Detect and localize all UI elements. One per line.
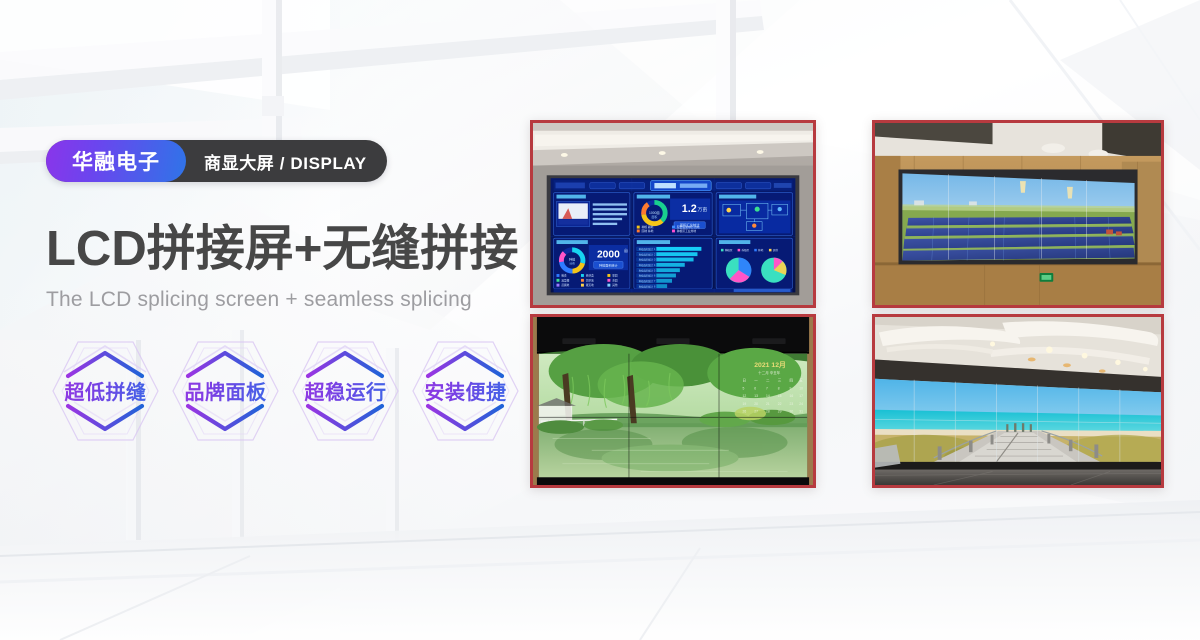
svg-text:12: 12 (743, 394, 747, 398)
svg-text:粮食: 粮食 (561, 274, 567, 278)
product-photo-lake-wall[interactable]: 2021 12月 十二月 辛丑年 日一二 三四五 567 8910 121314… (530, 314, 816, 488)
svg-text:种植面积统计 4: 种植面积统计 4 (639, 263, 656, 267)
svg-text:16: 16 (790, 394, 794, 398)
feature-badge-label: 超低拼缝 (48, 376, 163, 405)
svg-text:9: 9 (790, 386, 792, 390)
svg-text:日: 日 (743, 379, 747, 383)
feature-badge-label: 品牌面板 (168, 376, 283, 405)
dashboard-pie-right (761, 258, 786, 283)
svg-text:31: 31 (799, 410, 803, 414)
svg-text:种植区: 种植区 (725, 248, 733, 252)
svg-text:一: 一 (754, 379, 758, 383)
solar-wall-illustration (875, 123, 1161, 305)
feature-badge-label: 超稳运行 (288, 376, 403, 405)
page-title: LCD拼接屏+无缝拼接 (46, 224, 546, 276)
svg-text:分布: 分布 (569, 260, 575, 265)
svg-text:其他: 其他 (773, 248, 779, 252)
photo-inner: 1000亩 面积 1.2 万亩 面积汇总统计 种植 耕地 园地 林地 配套设施中… (533, 123, 813, 305)
svg-text:2021 12月: 2021 12月 (754, 361, 786, 369)
svg-text:种植面积统计: 种植面积统计 (599, 262, 618, 267)
svg-text:种植面积统计 7: 种植面积统计 7 (639, 279, 656, 283)
feature-badge-1: 超低拼缝 (48, 332, 163, 450)
feature-badge-3: 超稳运行 (288, 332, 403, 450)
svg-text:种植区工业用地: 种植区工业用地 (677, 229, 696, 233)
feature-badge-4: 安装便捷 (408, 332, 523, 450)
dashboard-pie-left (726, 258, 751, 283)
svg-text:5: 5 (743, 386, 745, 390)
svg-text:养殖区: 养殖区 (742, 248, 750, 252)
feature-badge-2: 品牌面板 (168, 332, 283, 450)
svg-text:15: 15 (778, 394, 782, 398)
dashboard-kpi-value: 1.2 (682, 203, 697, 215)
svg-text:26: 26 (743, 410, 747, 414)
product-photo-solar-wall[interactable] (872, 120, 1164, 308)
svg-text:亩: 亩 (624, 248, 628, 253)
brand-badge-name: 华融电子 (46, 140, 186, 182)
svg-text:10: 10 (799, 386, 803, 390)
dashboard-kpi-secondary: 2000 (597, 250, 620, 261)
svg-text:二: 二 (766, 379, 770, 383)
svg-text:8: 8 (778, 386, 780, 390)
svg-text:林地: 林地 (758, 248, 764, 252)
svg-text:配套设施中心 占地: 配套设施中心 占地 (677, 225, 700, 229)
svg-text:经济类: 经济类 (586, 274, 594, 278)
svg-text:14: 14 (766, 394, 770, 398)
svg-text:29: 29 (778, 410, 782, 414)
svg-text:22: 22 (778, 402, 782, 406)
svg-text:19: 19 (743, 402, 747, 406)
svg-text:五: 五 (799, 379, 803, 383)
promo-banner: 华融电子 商显大屏 / DISPLAY LCD拼接屏+无缝拼接 The LCD … (0, 0, 1200, 640)
dashboard-wall-illustration: 1000亩 面积 1.2 万亩 面积汇总统计 种植 耕地 园地 林地 配套设施中… (533, 123, 813, 305)
svg-text:7: 7 (766, 386, 768, 390)
svg-text:十二月 辛丑年: 十二月 辛丑年 (758, 370, 781, 375)
beach-wall-illustration (875, 317, 1161, 485)
svg-text:种植面积统计 1: 种植面积统计 1 (639, 247, 656, 251)
svg-text:撂荒地: 撂荒地 (586, 283, 594, 287)
svg-text:面积: 面积 (651, 214, 657, 219)
svg-text:23: 23 (790, 402, 794, 406)
svg-text:三: 三 (778, 379, 782, 383)
svg-text:种植面积统计 3: 种植面积统计 3 (639, 258, 656, 262)
product-photo-dashboard-wall[interactable]: 1000亩 面积 1.2 万亩 面积汇总统计 种植 耕地 园地 林地 配套设施中… (530, 120, 816, 308)
svg-text:种植面积统计 5: 种植面积统计 5 (639, 268, 656, 272)
svg-text:27: 27 (754, 410, 758, 414)
svg-text:种植 耕地: 种植 耕地 (642, 225, 654, 229)
feature-list: 超低拼缝 品牌面板 (48, 332, 523, 450)
svg-text:种植面积统计 2: 种植面积统计 2 (639, 252, 656, 256)
page-subtitle: The LCD splicing screen + seamless splic… (46, 288, 546, 312)
svg-text:30: 30 (790, 410, 794, 414)
svg-text:茶园: 茶园 (612, 278, 618, 282)
svg-text:28: 28 (766, 410, 770, 414)
svg-text:21: 21 (766, 402, 770, 406)
product-photo-beach-wall[interactable] (872, 314, 1164, 488)
svg-text:24: 24 (799, 402, 803, 406)
svg-text:13: 13 (754, 394, 758, 398)
svg-text:饲草地: 饲草地 (586, 278, 594, 282)
svg-text:种植面积统计 6: 种植面积统计 6 (639, 274, 656, 278)
brand-badge-category: 商显大屏 / DISPLAY (186, 149, 367, 174)
lake-wall-illustration: 2021 12月 十二月 辛丑年 日一二 三四五 567 8910 121314… (533, 317, 813, 485)
svg-text:蔬菜棚: 蔬菜棚 (561, 278, 569, 282)
feature-badge-label: 安装便捷 (408, 376, 523, 405)
svg-text:苗圃地: 苗圃地 (561, 283, 569, 287)
brand-badge: 华融电子 商显大屏 / DISPLAY (46, 140, 387, 182)
svg-text:6: 6 (754, 386, 756, 390)
photo-inner: 2021 12月 十二月 辛丑年 日一二 三四五 567 8910 121314… (533, 317, 813, 485)
svg-text:园地 林地: 园地 林地 (642, 229, 654, 233)
photo-inner (875, 123, 1161, 305)
photo-inner (875, 317, 1161, 485)
svg-text:果园: 果园 (612, 274, 618, 278)
hero-text-block: 华融电子 商显大屏 / DISPLAY LCD拼接屏+无缝拼接 The LCD … (46, 140, 546, 312)
svg-text:17: 17 (799, 394, 803, 398)
svg-text:20: 20 (754, 402, 758, 406)
svg-text:四: 四 (790, 379, 794, 383)
svg-text:其他: 其他 (612, 283, 618, 287)
svg-text:种植面积统计 8: 种植面积统计 8 (639, 284, 656, 288)
svg-text:万亩: 万亩 (697, 206, 707, 213)
